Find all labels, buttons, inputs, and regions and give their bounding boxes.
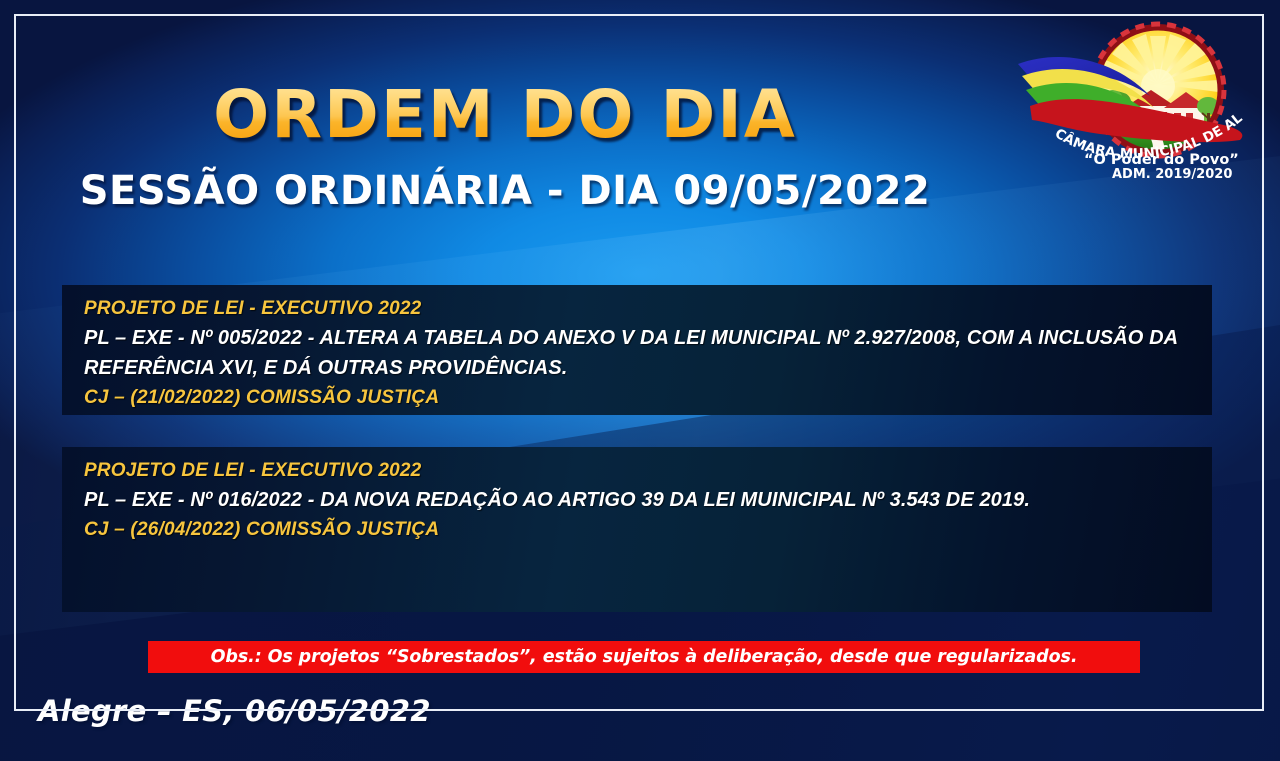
agenda-item-block: PROJETO DE LEI - EXECUTIVO 2022 PL – EXE… xyxy=(62,447,1212,612)
notice-bar: Obs.: Os projetos “Sobrestados”, estão s… xyxy=(148,641,1140,673)
notice-text: Obs.: Os projetos “Sobrestados”, estão s… xyxy=(211,647,1078,667)
item-committee: CJ – (21/02/2022) COMISSÃO JUSTIÇA xyxy=(84,383,1196,412)
item-body: PL – EXE - Nº 016/2022 - DA NOVA REDAÇÃO… xyxy=(84,485,1196,515)
camara-municipal-logo: CÂMARA MUNICIPAL DE ALEGRE - ES “O Poder… xyxy=(1000,18,1262,188)
item-heading: PROJETO DE LEI - EXECUTIVO 2022 xyxy=(84,457,1196,485)
page-subtitle: SESSÃO ORDINÁRIA - DIA 09/05/2022 xyxy=(0,168,1010,214)
slide-canvas: ORDEM DO DIA SESSÃO ORDINÁRIA - DIA 09/0… xyxy=(0,0,1280,761)
item-committee: CJ – (26/04/2022) COMISSÃO JUSTIÇA xyxy=(84,515,1196,544)
logo-motto: “O Poder do Povo” xyxy=(1084,152,1239,168)
agenda-item-block: PROJETO DE LEI - EXECUTIVO 2022 PL – EXE… xyxy=(62,285,1212,415)
item-heading: PROJETO DE LEI - EXECUTIVO 2022 xyxy=(84,295,1196,323)
item-body: PL – EXE - Nº 005/2022 - ALTERA A TABELA… xyxy=(84,323,1196,383)
logo-administration: ADM. 2019/2020 xyxy=(1112,167,1232,182)
footer-location-date: Alegre – ES, 06/05/2022 xyxy=(38,694,431,728)
page-title: ORDEM DO DIA xyxy=(0,76,1010,153)
